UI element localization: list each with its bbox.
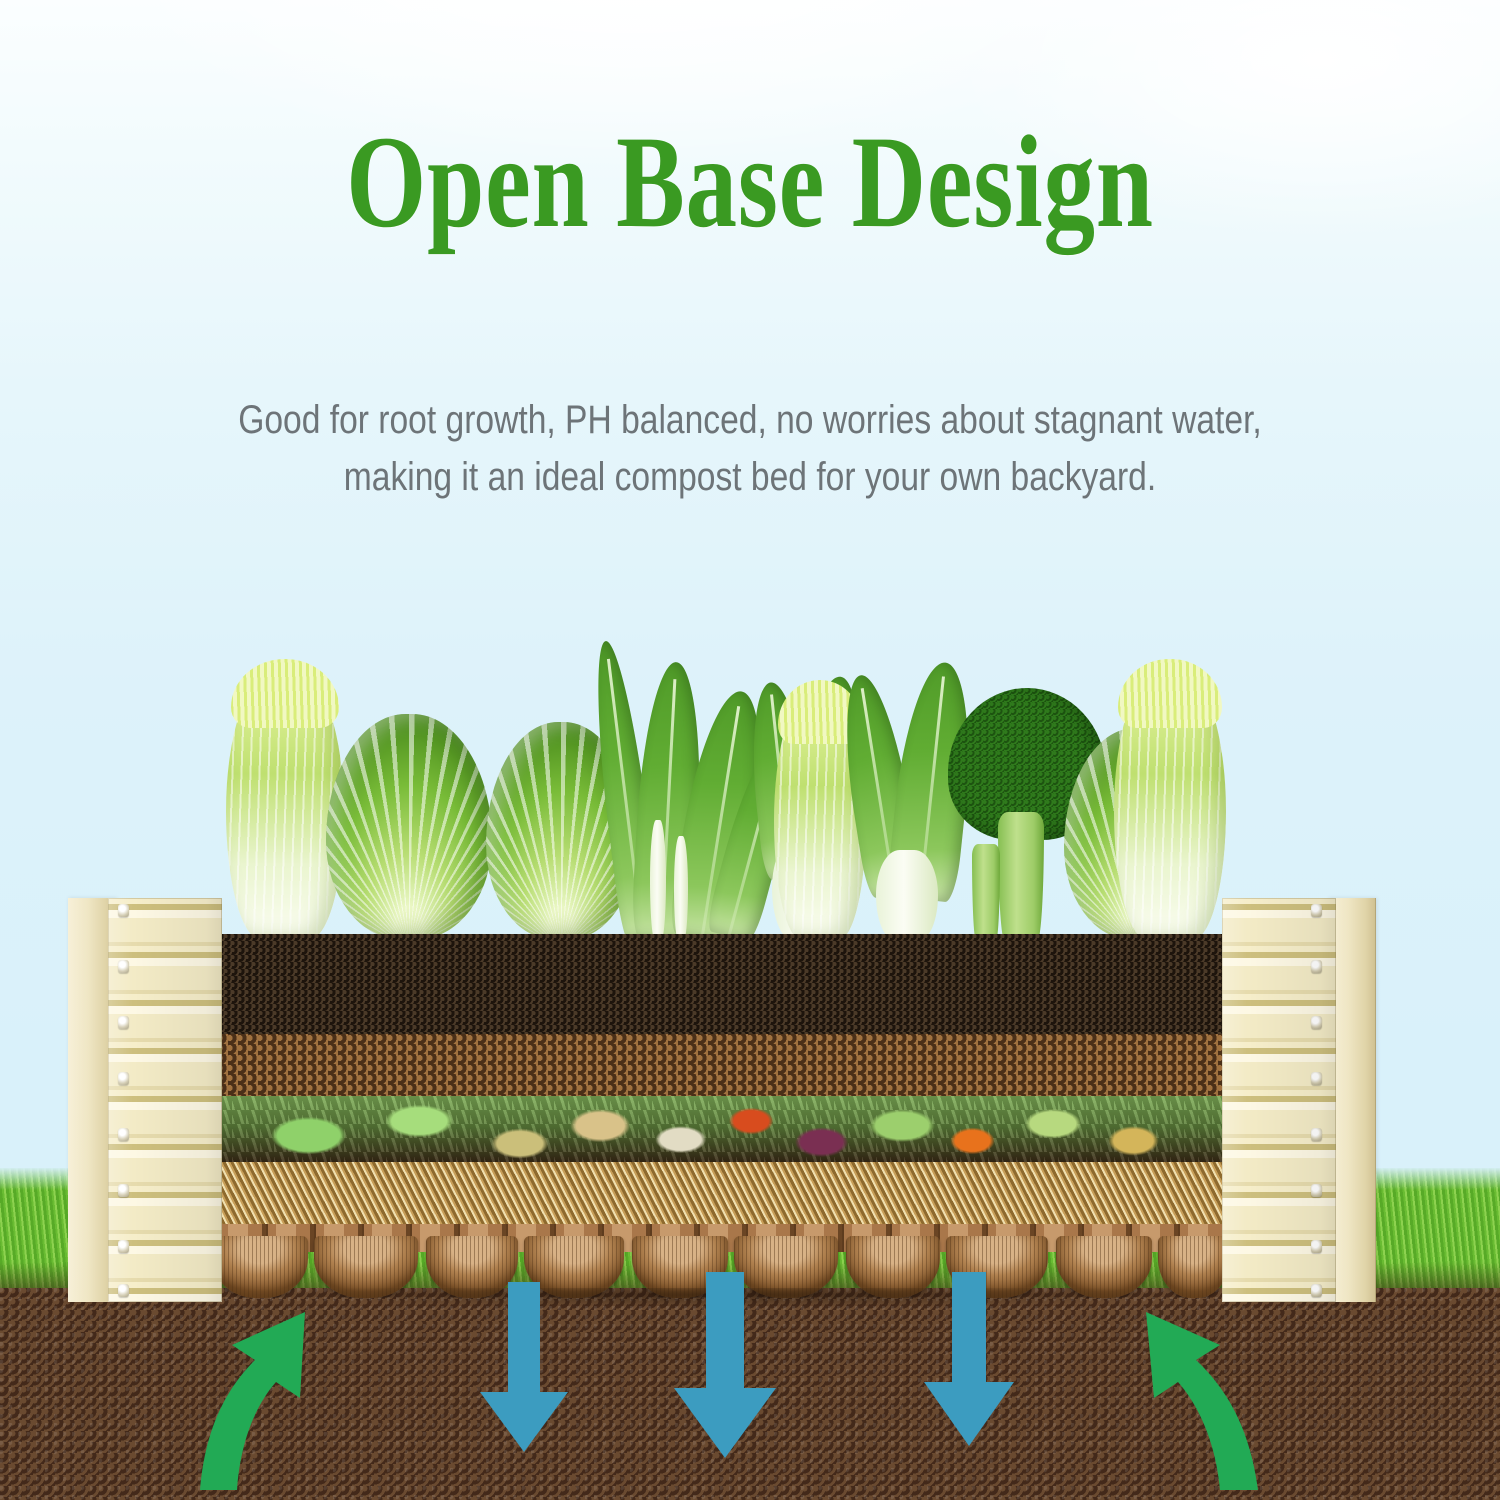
screw-icon (118, 1128, 129, 1141)
infographic-canvas: Open Base Design Good for root growth, P… (0, 0, 1500, 1500)
bed-ground-shadow (60, 1288, 1390, 1322)
vegetable-row (218, 600, 1224, 940)
layer-straw (218, 1162, 1224, 1224)
screw-icon (1311, 1016, 1322, 1029)
side-panel-right (1222, 898, 1376, 1302)
screw-icon (1311, 1128, 1322, 1141)
plant-napa-cabbage (1114, 672, 1226, 940)
screw-icon (118, 1016, 129, 1029)
screw-icon (1311, 1240, 1322, 1253)
layer-kitchen-scraps (218, 1096, 1224, 1162)
screw-icon (118, 960, 129, 973)
screw-icon (1311, 1184, 1322, 1197)
screw-icon (1311, 904, 1322, 917)
plant-green-cabbage (326, 714, 492, 940)
screw-icon (118, 1240, 129, 1253)
screw-icon (118, 904, 129, 917)
screw-icon (1311, 1284, 1322, 1297)
layer-mulch (218, 1034, 1224, 1096)
screw-icon (118, 1284, 129, 1297)
screw-icon (118, 1072, 129, 1085)
metal-slats-left (108, 898, 222, 1302)
plant-napa-cabbage (226, 672, 344, 940)
side-panel-left (68, 898, 222, 1302)
screw-icon (1311, 1072, 1322, 1085)
screw-icon (118, 1184, 129, 1197)
layer-topsoil (218, 934, 1224, 1034)
page-title: Open Base Design (165, 116, 1335, 248)
screw-icon (1311, 960, 1322, 973)
compost-cross-section (218, 934, 1224, 1252)
metal-slats-right (1222, 898, 1336, 1302)
page-subtitle: Good for root growth, PH balanced, no wo… (154, 392, 1347, 506)
